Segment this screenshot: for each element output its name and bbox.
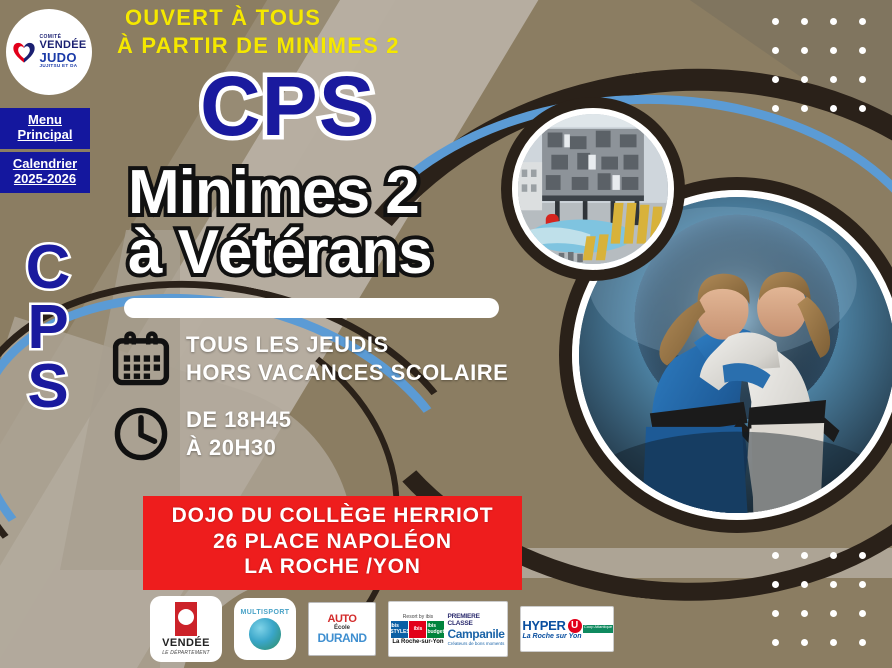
calendrier-line2: 2025-2026	[2, 172, 88, 187]
calendrier-line1: Calendrier	[2, 157, 88, 172]
clock-icon	[112, 405, 170, 463]
hyper-label: HYPER	[522, 618, 565, 633]
multisport-logo: MULTISPORT	[234, 598, 296, 660]
ibis-budget-badge: ibis budget	[427, 621, 444, 638]
ibis-badge: ibis	[409, 621, 426, 638]
ibis-campanile-premiere-classe-logo: Resort by ibis ibis STYLES ibis ibis bud…	[388, 601, 508, 657]
schedule-hours-text: DE 18H45 À 20H30	[186, 406, 292, 462]
menu-principal-line1: Menu	[2, 113, 88, 128]
venue-address-block: DOJO DU COLLÈGE HERRIOT 26 PLACE NAPOLÉO…	[143, 496, 522, 590]
schedule-hours-line1: DE 18H45	[186, 406, 292, 434]
campanile-tagline: Créateurs de bons moments	[448, 641, 505, 646]
campanile-label: Campanile	[447, 627, 504, 641]
subtitle-line-2: à Vétérans	[128, 222, 432, 284]
poster-canvas: COMITÉ VENDÉE JUDO JUJITSU ET DA Menu Pr…	[0, 0, 892, 668]
u-badge-icon: U	[568, 619, 582, 633]
hyper-u-wordmark: HYPER U	[522, 618, 581, 633]
ibis-resort-label: Resort by ibis	[403, 614, 433, 620]
address-line2: 26 PLACE NAPOLÉON	[153, 529, 512, 555]
ibis-styles-badge: ibis STYLES	[391, 621, 408, 638]
ibis-city-label: La Roche-sur-Yon	[392, 639, 443, 645]
address-line1: DOJO DU COLLÈGE HERRIOT	[153, 503, 512, 529]
coop-atlantique-block: Coop Atlantique	[583, 625, 613, 632]
auto-logo-top: AUTO	[328, 613, 357, 625]
logo-discipline-text: JUJITSU ET DA	[39, 64, 86, 69]
dot-grid-bottom-right	[772, 552, 866, 646]
menu-principal-line2: Principal	[2, 128, 88, 143]
heart-logo-icon	[11, 39, 37, 65]
calendar-icon	[112, 330, 170, 388]
open-to-all-banner: OUVERT À TOUS À PARTIR DE MINIMES 2	[125, 4, 400, 59]
ibis-badges: ibis STYLES ibis ibis budget	[391, 621, 444, 638]
hyper-u-logo: HYPER U La Roche sur Yon Coop Atlantique	[520, 606, 614, 652]
vendee-logo-subtitle: LE DÉPARTEMENT	[162, 650, 210, 656]
vendee-logo-title: VENDÉE	[162, 637, 210, 649]
premiere-classe-label: PREMIERE CLASSE	[447, 613, 504, 627]
globe-icon	[249, 618, 281, 650]
vendee-departement-logo: VENDÉE LE DÉPARTEMENT	[150, 596, 222, 662]
open-to-all-line1: OUVERT À TOUS	[125, 4, 400, 32]
campanile-group: PREMIERE CLASSE Campanile Créateurs de b…	[447, 613, 504, 646]
address-line3: LA ROCHE /YON	[153, 554, 512, 580]
open-to-all-line2: À PARTIR DE MINIMES 2	[117, 32, 400, 60]
schedule-days-row: TOUS LES JEUDIS HORS VACANCES SCOLAIRE	[112, 330, 508, 388]
schedule-days-line1: TOUS LES JEUDIS	[186, 331, 508, 359]
auto-ecole-durand-logo: AUTO École DURAND	[308, 602, 376, 656]
page-title: CPS	[200, 64, 376, 148]
schedule-hours-row: DE 18H45 À 20H30	[112, 405, 292, 463]
auto-logo-bottom: DURAND	[318, 631, 367, 645]
menu-principal-button[interactable]: Menu Principal	[0, 108, 90, 149]
comite-vendee-judo-logo: COMITÉ VENDÉE JUDO JUJITSU ET DA	[6, 9, 92, 95]
subtitle-line-1: Minimes 2	[128, 162, 419, 224]
sponsor-row: VENDÉE LE DÉPARTEMENT MULTISPORT AUTO Éc…	[150, 596, 614, 662]
building-photo	[512, 108, 674, 270]
vendee-heart-icon	[175, 602, 197, 636]
schedule-hours-line2: À 20H30	[186, 434, 292, 462]
ibis-group: Resort by ibis ibis STYLES ibis ibis bud…	[391, 614, 444, 645]
dot-grid-top-right	[772, 18, 866, 112]
multisport-logo-title: MULTISPORT	[241, 609, 290, 616]
schedule-days-line2: HORS VACANCES SCOLAIRE	[186, 359, 508, 387]
calendrier-button[interactable]: Calendrier 2025-2026	[0, 152, 90, 193]
vertical-letter-s: S	[0, 357, 96, 417]
coop-atlantique-label: Coop Atlantique	[584, 625, 612, 629]
vertical-letter-c: C	[0, 238, 96, 298]
title-divider-bar	[124, 298, 499, 318]
hyper-u-left: HYPER U La Roche sur Yon	[521, 618, 583, 640]
schedule-days-text: TOUS LES JEUDIS HORS VACANCES SCOLAIRE	[186, 331, 508, 387]
hyper-u-city: La Roche sur Yon	[522, 633, 581, 640]
vertical-letter-p: P	[0, 298, 96, 358]
vertical-cps-letters: C P S	[0, 238, 96, 417]
